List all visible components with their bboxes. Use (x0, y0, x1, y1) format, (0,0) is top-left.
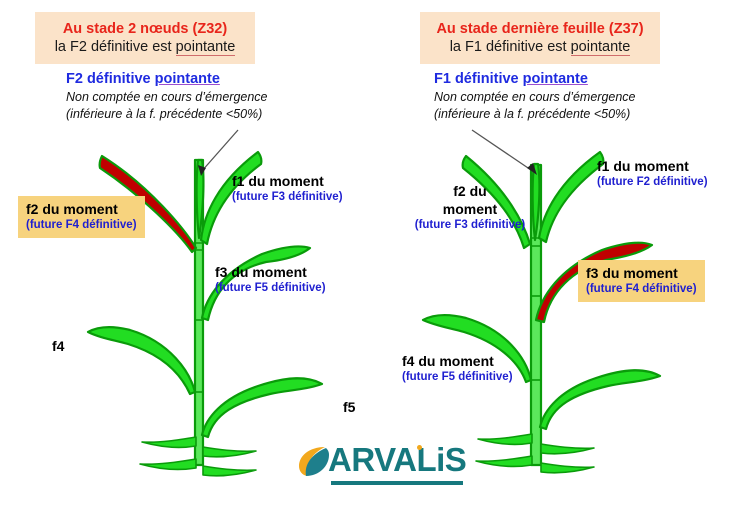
panel-stage-z37: Au stade dernière feuille (Z37) la F1 dé… (374, 0, 747, 507)
arrow-to-pointante (472, 130, 537, 175)
label-f2-moment: f2 du moment (future F4 définitive) (18, 196, 145, 238)
label-f2-moment-future: (future F4 définitive) (26, 218, 137, 233)
leaf-f5 (202, 378, 322, 437)
label-f3-moment-future: (future F5 définitive) (215, 281, 326, 296)
label-f1-moment-main: f1 du moment (597, 157, 708, 175)
label-f2-moment-main-line1: f2 du (400, 182, 540, 200)
label-f5-main: f5 (343, 398, 355, 416)
label-f2-moment: f2 du moment (future F3 définitive) (400, 182, 540, 233)
label-f3-moment-future: (future F4 définitive) (586, 282, 697, 297)
panel-stage-z32: Au stade 2 nœuds (Z32) la F2 définitive … (0, 0, 373, 507)
label-f2-moment-future: (future F3 définitive) (400, 218, 540, 233)
label-f3-moment-main: f3 du moment (586, 264, 697, 282)
label-f1-moment: f1 du moment (future F3 définitive) (232, 172, 343, 205)
arvalis-logo-underline (331, 481, 463, 485)
leaf-f5 (540, 370, 660, 429)
arrow-to-pointante (198, 130, 238, 176)
label-f2-moment-main: f2 du moment (26, 200, 137, 218)
label-f4-main: f4 (52, 337, 64, 355)
label-f4: f4 (52, 337, 64, 355)
label-f2-moment-main-line2: moment (400, 200, 540, 218)
wheat-plant-diagram-z37 (374, 0, 747, 507)
label-f4-moment-main: f4 du moment (402, 352, 513, 370)
arvalis-logo: ARVALiS (295, 441, 485, 487)
leaf-f4 (88, 327, 195, 394)
label-f1-moment-future: (future F2 définitive) (597, 175, 708, 190)
wheat-plant-diagram-z32 (0, 0, 373, 507)
label-f1-moment-main: f1 du moment (232, 172, 343, 190)
label-f3-moment-main: f3 du moment (215, 263, 326, 281)
arvalis-logo-text: ARVALiS (328, 441, 466, 479)
label-f3-moment: f3 du moment (future F5 définitive) (215, 263, 326, 296)
label-f1-moment: f1 du moment (future F2 définitive) (597, 157, 708, 190)
leaf-f1 (539, 152, 603, 242)
label-f1-moment-future: (future F3 définitive) (232, 190, 343, 205)
label-f4-moment: f4 du moment (future F5 définitive) (402, 352, 513, 385)
label-f5: f5 (343, 398, 355, 416)
label-f3-moment: f3 du moment (future F4 définitive) (578, 260, 705, 302)
label-f4-moment-future: (future F5 définitive) (402, 370, 513, 385)
arvalis-logo-dot (417, 445, 422, 450)
